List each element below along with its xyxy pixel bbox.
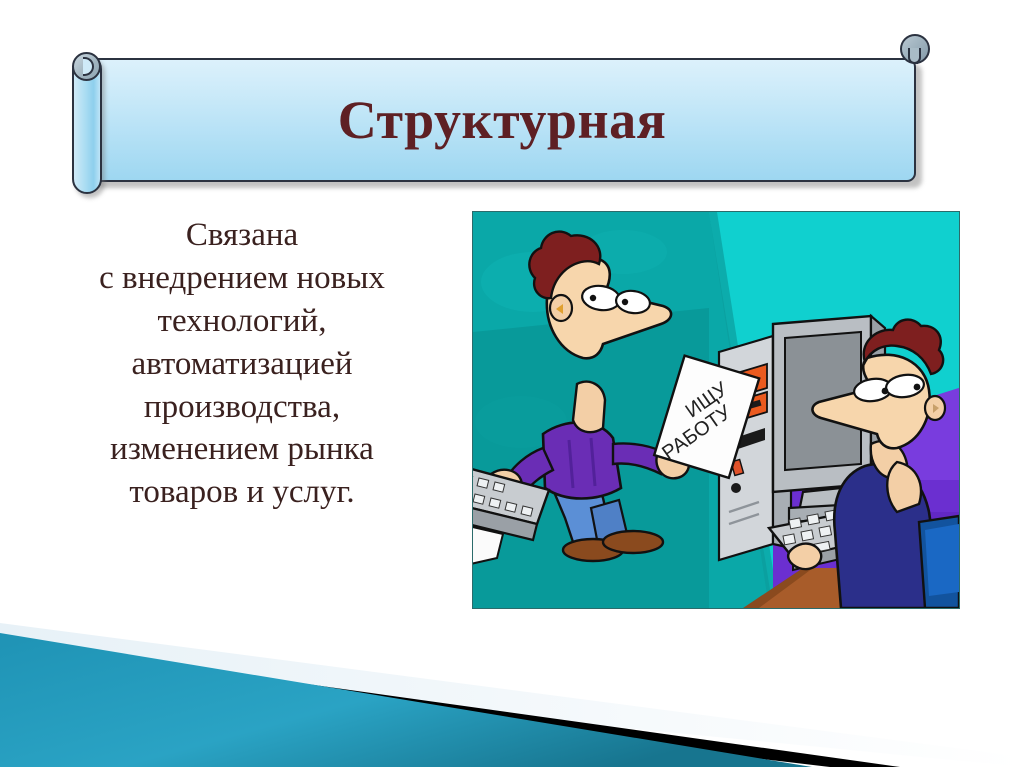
decor-band-black (0, 641, 900, 767)
character-right-hand (788, 544, 821, 569)
character-left-neck (573, 382, 605, 432)
character-left-shirt (543, 422, 621, 498)
cartoon-illustration: ИЩУ РАБОТУ (472, 211, 960, 609)
decor-band-teal (0, 633, 812, 767)
bottom-decoration (0, 607, 1024, 767)
body-line: технологий, (22, 300, 462, 343)
body-line: Связана (22, 214, 462, 257)
page-title: Структурная (88, 58, 916, 182)
body-paragraph: Связана с внедрением новых технологий, а… (22, 214, 462, 514)
reset-button (731, 483, 741, 493)
body-line: автоматизацией (22, 343, 462, 386)
shoe (603, 531, 663, 553)
body-line: товаров и услуг. (22, 471, 462, 514)
body-line: с внедрением новых (22, 257, 462, 300)
decor-band-light (0, 623, 1024, 767)
body-line: изменением рынка (22, 428, 462, 471)
chair-pad (925, 524, 959, 596)
title-banner: Структурная (88, 58, 916, 182)
slide-canvas: Структурная Связана с внедрением новых т… (0, 0, 1024, 767)
body-line: производства, (22, 386, 462, 429)
